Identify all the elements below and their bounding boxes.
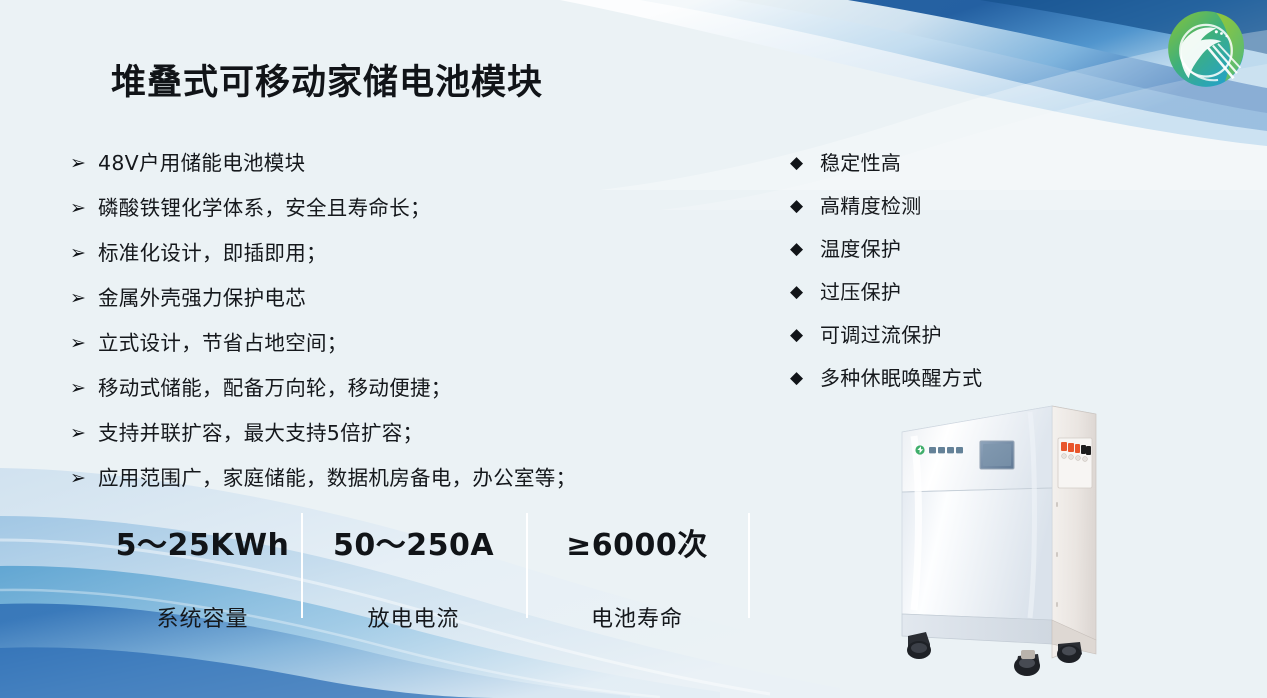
- list-item: ◆ 高精度检测: [790, 191, 1090, 234]
- feature-text: 可调过流保护: [820, 320, 942, 350]
- spec-summary-row: 5～25KWh 系统容量 50～250A 放电电流 ≥6000次 电池寿命: [104, 505, 764, 625]
- arrow-bullet-icon: ➢: [70, 283, 98, 313]
- list-item: ◆ 过压保护: [790, 277, 1090, 320]
- spec-value: ≥6000次: [566, 520, 708, 564]
- arrow-bullet-icon: ➢: [70, 328, 98, 358]
- features-right-column: ◆ 稳定性高 ◆ 高精度检测 ◆ 温度保护 ◆ 过压保护 ◆ 可调过流保护 ◆ …: [790, 148, 1090, 406]
- feature-text: 过压保护: [820, 277, 901, 307]
- feature-text: 立式设计，节省占地空间；: [98, 328, 348, 358]
- arrow-bullet-icon: ➢: [70, 148, 98, 178]
- feature-text: 48V户用储能电池模块: [98, 148, 305, 178]
- feature-text: 标准化设计，即插即用；: [98, 238, 327, 268]
- spec-label: 电池寿命: [591, 601, 683, 633]
- slide-root: 堆叠式可移动家储电池模块 ➢ 48V户用储能电池模块 ➢ 磷酸铁锂化学体系，安全…: [0, 0, 1267, 698]
- list-item: ➢ 48V户用储能电池模块: [70, 148, 710, 193]
- feature-text: 稳定性高: [820, 148, 901, 178]
- arrow-bullet-icon: ➢: [70, 238, 98, 268]
- diamond-bullet-icon: ◆: [790, 363, 820, 393]
- list-item: ➢ 磷酸铁锂化学体系，安全且寿命长；: [70, 193, 710, 238]
- arrow-bullet-icon: ➢: [70, 463, 98, 493]
- spec-value: 5～25KWh: [116, 520, 290, 564]
- feature-text: 高精度检测: [820, 191, 922, 221]
- feature-text: 应用范围广，家庭储能，数据机房备电，办公室等；: [98, 463, 576, 493]
- feature-text: 支持并联扩容，最大支持5倍扩容；: [98, 418, 423, 448]
- spec-capacity: 5～25KWh 系统容量: [104, 505, 301, 625]
- spec-value: 50～250A: [333, 520, 494, 564]
- feature-text: 磷酸铁锂化学体系，安全且寿命长；: [98, 193, 431, 223]
- features-left-column: ➢ 48V户用储能电池模块 ➢ 磷酸铁锂化学体系，安全且寿命长； ➢ 标准化设计…: [70, 148, 710, 508]
- list-item: ◆ 可调过流保护: [790, 320, 1090, 363]
- company-logo: [1163, 6, 1249, 92]
- product-image-battery-cabinet: [880, 392, 1130, 682]
- spec-cycle-life: ≥6000次 电池寿命: [526, 505, 748, 625]
- list-item: ◆ 多种休眠唤醒方式: [790, 363, 1090, 406]
- diamond-bullet-icon: ◆: [790, 234, 820, 264]
- list-item: ➢ 应用范围广，家庭储能，数据机房备电，办公室等；: [70, 463, 710, 508]
- spec-current: 50～250A 放电电流: [301, 505, 526, 625]
- list-item: ◆ 温度保护: [790, 234, 1090, 277]
- arrow-bullet-icon: ➢: [70, 418, 98, 448]
- caster-wheel: [1014, 650, 1040, 676]
- list-item: ➢ 立式设计，节省占地空间；: [70, 328, 710, 373]
- diamond-bullet-icon: ◆: [790, 277, 820, 307]
- arrow-bullet-icon: ➢: [70, 373, 98, 403]
- list-item: ◆ 稳定性高: [790, 148, 1090, 191]
- list-item: ➢ 移动式储能，配备万向轮，移动便捷；: [70, 373, 710, 418]
- diamond-bullet-icon: ◆: [790, 148, 820, 178]
- spec-label: 放电电流: [367, 601, 459, 633]
- diamond-bullet-icon: ◆: [790, 191, 820, 221]
- arrow-bullet-icon: ➢: [70, 193, 98, 223]
- spec-divider: [748, 513, 750, 618]
- spec-divider: [526, 513, 528, 618]
- feature-text: 温度保护: [820, 234, 901, 264]
- caster-wheel: [1057, 642, 1082, 663]
- spec-label: 系统容量: [156, 601, 248, 633]
- feature-text: 移动式储能，配备万向轮，移动便捷；: [98, 373, 452, 403]
- list-item: ➢ 支持并联扩容，最大支持5倍扩容；: [70, 418, 710, 463]
- list-item: ➢ 金属外壳强力保护电芯: [70, 283, 710, 328]
- diamond-bullet-icon: ◆: [790, 320, 820, 350]
- spec-divider: [301, 513, 303, 618]
- list-item: ➢ 标准化设计，即插即用；: [70, 238, 710, 283]
- page-title: 堆叠式可移动家储电池模块: [111, 54, 543, 105]
- feature-text: 金属外壳强力保护电芯: [98, 283, 306, 313]
- feature-text: 多种休眠唤醒方式: [820, 363, 982, 393]
